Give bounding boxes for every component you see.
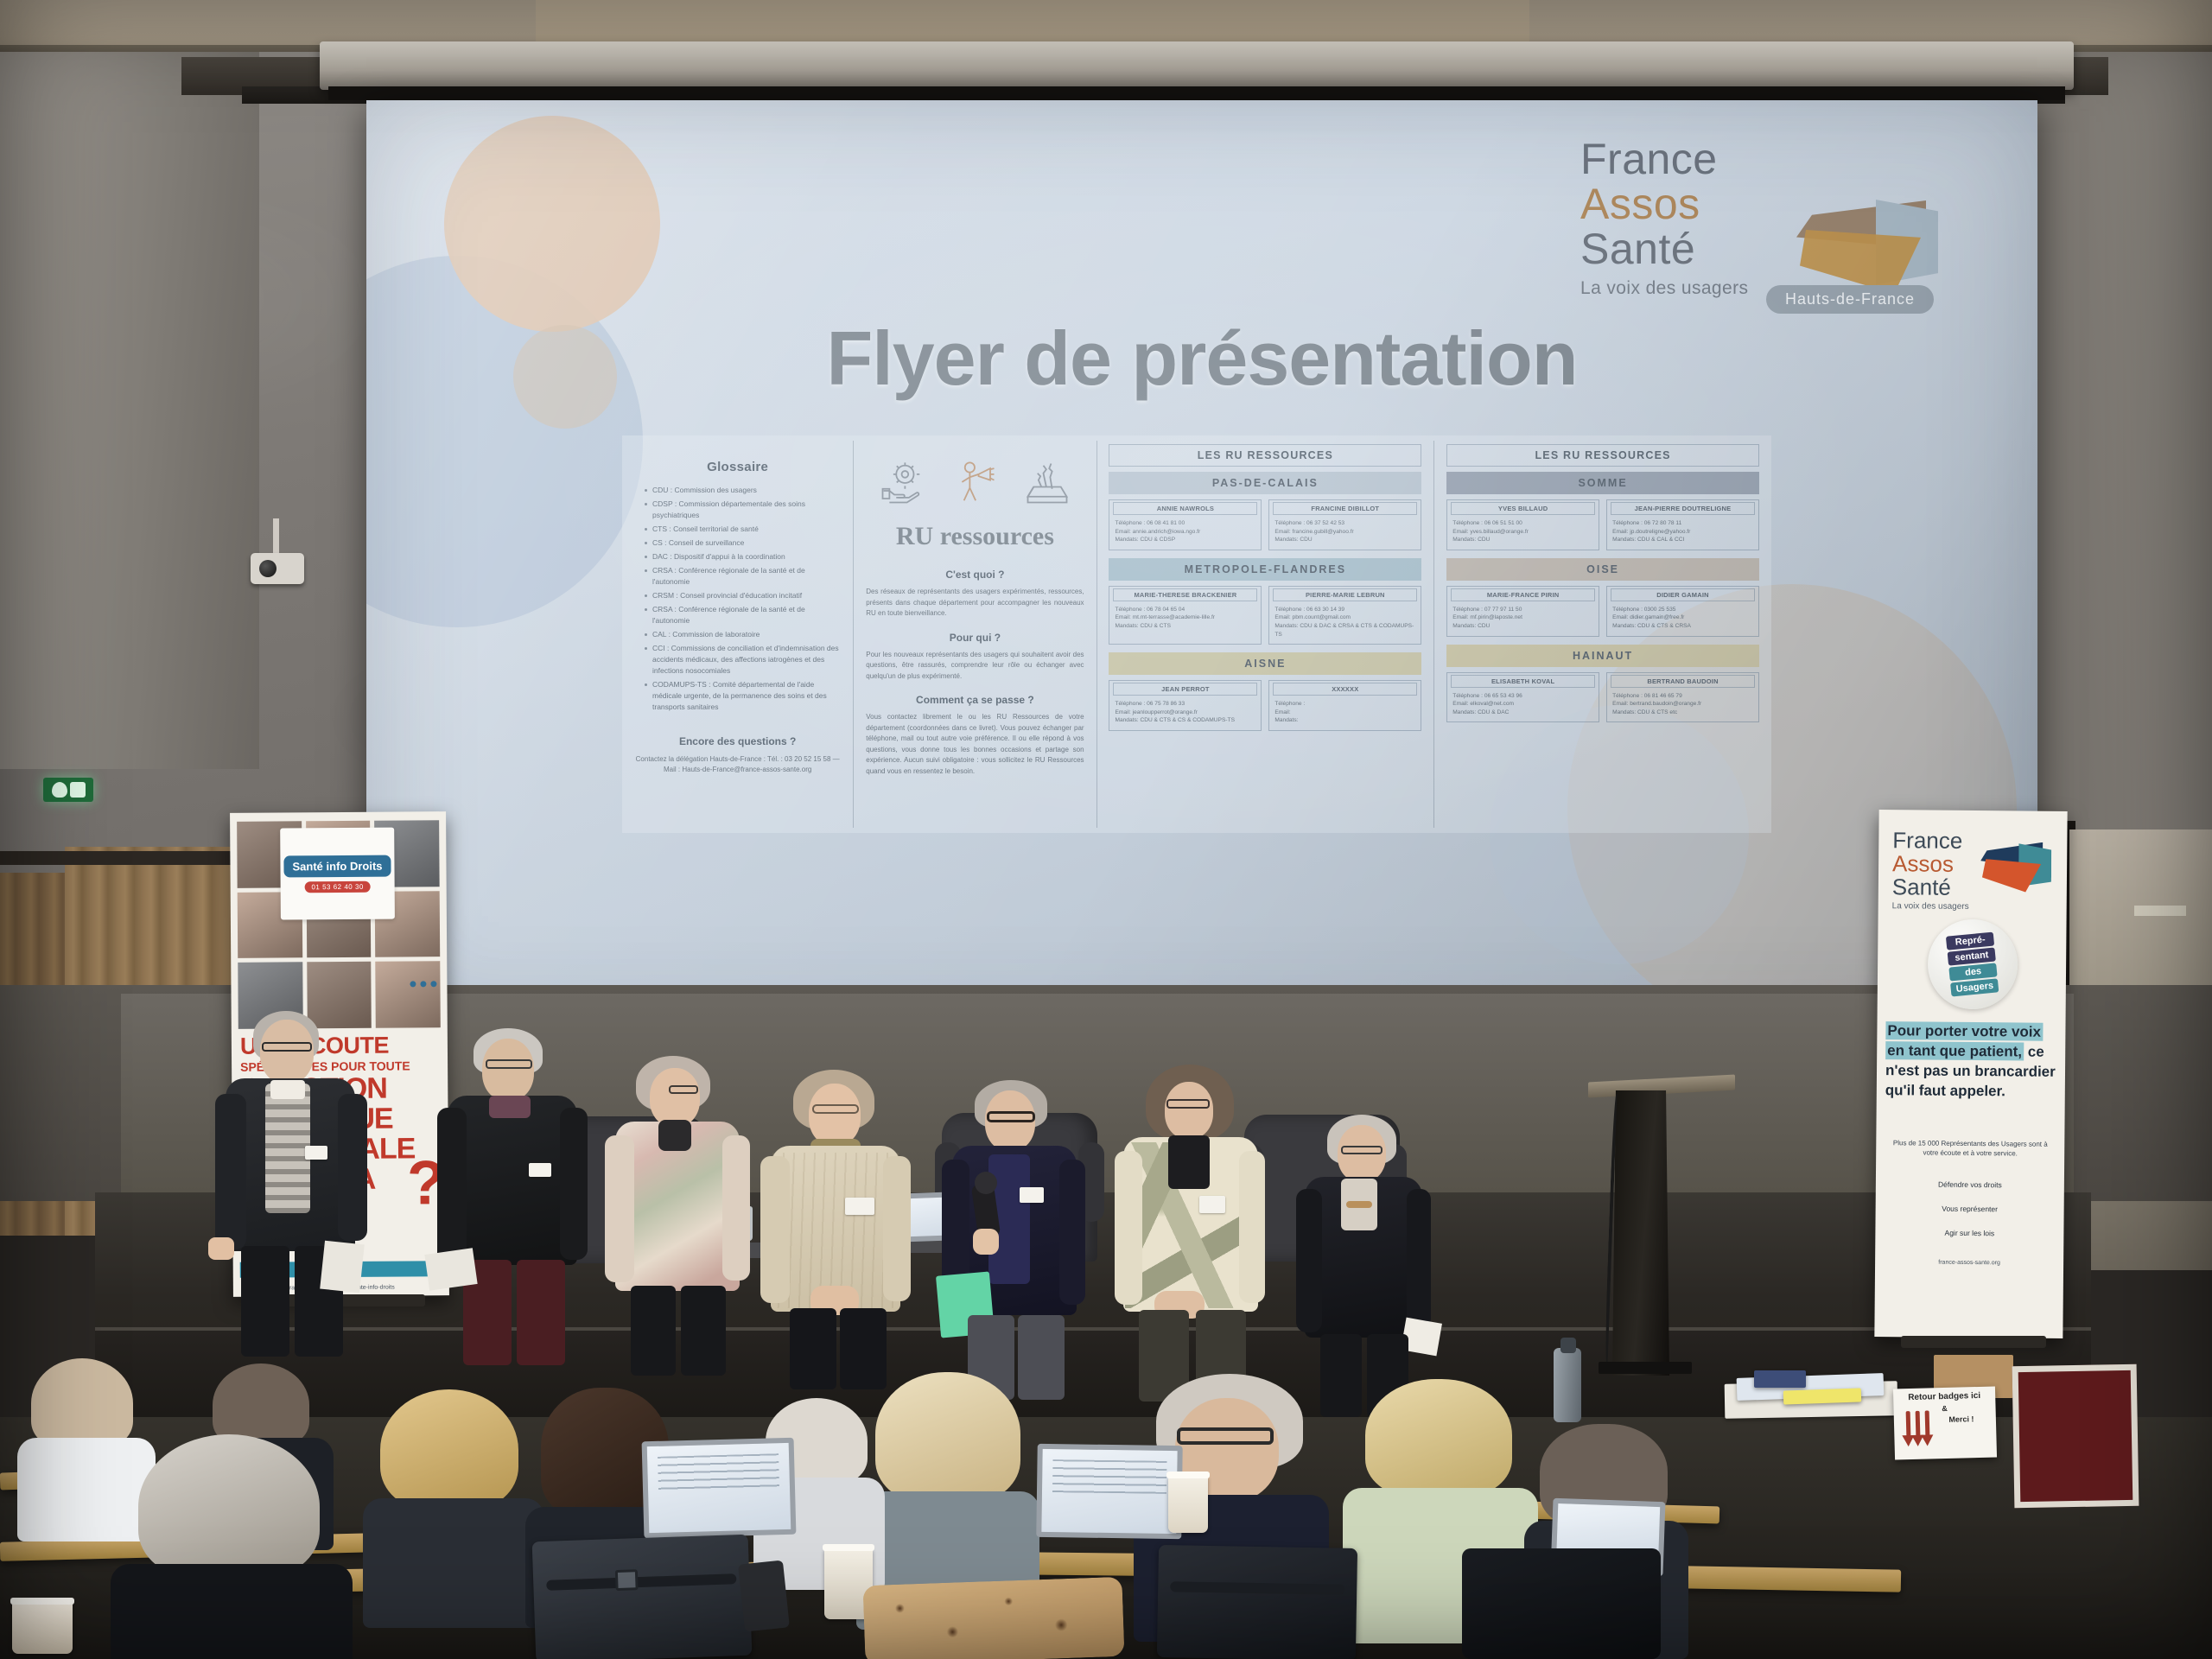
- panelist-1: [212, 1011, 372, 1357]
- coffee-cup: [1168, 1476, 1208, 1533]
- brand-phone: 01 53 62 40 30: [304, 880, 370, 893]
- contact-row: ELISABETH KOVAL Téléphone : 06 65 53 43 …: [1446, 672, 1759, 723]
- logo-line-1: France: [1580, 137, 1943, 181]
- glossary-item: CCI : Commissions de conciliation et d'i…: [645, 643, 841, 677]
- flyer-sheet: Glossaire CDU : Commission des usagers C…: [622, 435, 1771, 833]
- yellow-paper: [1783, 1388, 1862, 1404]
- panelist-2: [432, 1028, 592, 1365]
- glossary-item: CRSM : Conseil provincial d'éducation in…: [645, 590, 841, 601]
- thermos-cap: [1560, 1338, 1576, 1353]
- flyer-section-heading: Comment ça se passe ?: [866, 694, 1084, 706]
- banner-foot: [1901, 1336, 2046, 1348]
- glossary-question-heading: Encore des questions ?: [634, 735, 841, 747]
- glossary-item: CDSP : Commission départementale des soi…: [645, 499, 841, 521]
- contact-email: Email: pbm.count@gmail.com: [1274, 613, 1415, 622]
- glossary-item: CODAMUPS-TS : Comité départemental de l'…: [645, 679, 841, 713]
- contact-phone: Téléphone : 06 72 80 78 11: [1612, 519, 1753, 528]
- laptop-bag: [532, 1535, 753, 1659]
- wall-left-column: [0, 52, 259, 769]
- headline-highlight: Pour porter votre voix en tant que patie…: [1885, 1021, 2043, 1060]
- contact-phone: Téléphone : 06 08 41 81 00: [1115, 519, 1255, 528]
- contact-mandate: Mandats:: [1274, 716, 1415, 725]
- lectern-base: [1599, 1362, 1692, 1374]
- sign-line-1: Retour badges ici: [1897, 1391, 1992, 1403]
- france-assos-sante-logo: France Assos Santé La voix des usagers: [1580, 137, 1943, 299]
- contact-card: MARIE-FRANCE PIRIN Téléphone : 07 77 97 …: [1446, 586, 1599, 637]
- smartphone[interactable]: [738, 1560, 790, 1631]
- microphone-head-icon: [975, 1172, 997, 1194]
- eyeglasses-icon: [1166, 1099, 1210, 1109]
- contact-email: Email: francine.gubill@yahoo.fr: [1274, 528, 1415, 537]
- flyer-table-column-1: LES RU RESSOURCES PAS-DE-CALAIS ANNIE NA…: [1096, 435, 1433, 833]
- logo-tagline: La voix des usagers: [1892, 901, 2056, 912]
- backpack: [1157, 1545, 1357, 1659]
- dark-bag: [1462, 1548, 1661, 1659]
- coffee-cup: [12, 1602, 73, 1654]
- contact-phone: Téléphone : 06 63 30 14 39: [1274, 606, 1415, 614]
- decorative-dots-icon: [410, 981, 436, 987]
- flyer-icon-row: [866, 449, 1084, 517]
- glossary-item: CRSA : Conférence régionale de la santé …: [645, 565, 841, 588]
- contact-phone: Téléphone : 06 78 04 65 04: [1115, 606, 1255, 614]
- sign-line-3: Merci !: [1930, 1414, 1993, 1425]
- contact-phone: Téléphone : 06 06 51 51 00: [1452, 519, 1593, 528]
- thermos-bottle: [1554, 1348, 1581, 1422]
- projection-screen-bar: [328, 86, 2065, 100]
- banner-bullet: Agir sur les lois: [1891, 1228, 2048, 1238]
- badge-line-4: Usagers: [1950, 978, 1999, 996]
- contact-name: XXXXXX: [1273, 683, 1417, 696]
- contact-name: MARIE-THERESE BRACKENIER: [1113, 588, 1257, 601]
- contact-card: MARIE-THERESE BRACKENIER Téléphone : 06 …: [1109, 586, 1262, 645]
- banner-url: france-assos-sante.org: [1891, 1259, 2048, 1267]
- leopard-print-scarf: [862, 1577, 1124, 1659]
- logo-mark-icon: [1980, 836, 2054, 891]
- corridor-light: [2134, 906, 2186, 916]
- contact-card: XXXXXX Téléphone : Email: Mandats:: [1268, 680, 1421, 731]
- red-display-board: [2012, 1364, 2139, 1508]
- contact-email: Email: jeanloupperrot@orange.fr: [1115, 709, 1255, 717]
- banner-bullet: Défendre vos droits: [1891, 1179, 2049, 1190]
- contact-card: BERTRAND BAUDOIN Téléphone : 06 81 46 65…: [1606, 672, 1759, 723]
- glossary-item: CTS : Conseil territorial de santé: [645, 524, 841, 535]
- contact-name: FRANCINE DIBILLOT: [1273, 502, 1417, 515]
- contact-card: JEAN PERROT Téléphone : 06 75 78 86 33 E…: [1109, 680, 1262, 731]
- audience-laptop[interactable]: [1036, 1444, 1182, 1539]
- logo-region-pill: Hauts-de-France: [1766, 285, 1934, 314]
- audience-member: [372, 1389, 527, 1588]
- contact-row: YVES BILLAUD Téléphone : 06 06 51 51 00 …: [1446, 499, 1759, 550]
- slide-blob: [444, 116, 660, 332]
- security-camera-icon: [251, 553, 304, 584]
- contact-name: JEAN PERROT: [1113, 683, 1257, 696]
- emergency-exit-icon: [43, 778, 93, 802]
- contact-phone: Téléphone : 06 65 53 43 96: [1452, 692, 1593, 701]
- flyer-section-text: Vous contactez librement le ou les RU Re…: [866, 712, 1084, 777]
- glossary-item: CAL : Commission de laboratoire: [645, 629, 841, 640]
- flyer-middle-title: RU ressources: [866, 522, 1084, 551]
- contact-mandate: Mandats: CDU & CTS & CS & CODAMUPS-TS: [1115, 716, 1255, 725]
- banner-bullet: Vous représenter: [1891, 1204, 2049, 1214]
- badge-return-sign: Retour badges ici & Merci !: [1893, 1386, 1997, 1459]
- contact-row: MARIE-THERESE BRACKENIER Téléphone : 06 …: [1109, 586, 1421, 645]
- contact-email: Email: yves.billaud@orange.fr: [1452, 528, 1593, 537]
- contact-card: FRANCINE DIBILLOT Téléphone : 06 37 52 4…: [1268, 499, 1421, 550]
- contact-phone: Téléphone : 06 81 46 65 79: [1612, 692, 1753, 701]
- glossary-heading: Glossaire: [634, 460, 841, 474]
- contact-name: YVES BILLAUD: [1451, 502, 1595, 515]
- eyeglasses-icon: [262, 1042, 312, 1052]
- region-band: SOMME: [1446, 472, 1759, 494]
- contact-name: JEAN-PIERRE DOUTRELIGNE: [1611, 502, 1755, 515]
- flyer-section-heading: Pour qui ?: [866, 632, 1084, 644]
- wall-right-column: [2013, 52, 2212, 925]
- audience-laptop[interactable]: [642, 1438, 797, 1539]
- leaflet: [1754, 1370, 1806, 1388]
- contact-name: ANNIE NAWROLS: [1113, 502, 1257, 515]
- contact-card: ANNIE NAWROLS Téléphone : 06 08 41 81 00…: [1109, 499, 1262, 550]
- logo-mark-icon: [1796, 187, 1948, 290]
- contact-phone: Téléphone : 06 75 78 86 33: [1115, 700, 1255, 709]
- glossary-question-text: Contactez la délégation Hauts-de-France …: [634, 754, 841, 775]
- camera-mount: [273, 518, 279, 556]
- contact-name: ELISABETH KOVAL: [1451, 675, 1595, 688]
- eyeglasses-icon: [1177, 1427, 1274, 1445]
- panelist-4: [760, 1070, 912, 1389]
- contact-email: Email: jp.doutreligne@yahoo.fr: [1612, 528, 1753, 537]
- contact-phone: Téléphone : 07 77 97 11 50: [1452, 606, 1593, 614]
- contact-name: DIDIER GAMAIN: [1611, 588, 1755, 601]
- flyer-section-text: Pour les nouveaux représentants des usag…: [866, 650, 1084, 683]
- contact-name: BERTRAND BAUDOIN: [1611, 675, 1755, 688]
- contact-phone: Téléphone : 06 37 52 42 53: [1274, 519, 1415, 528]
- contact-name: PIERRE-MARIE LEBRUN: [1273, 588, 1417, 601]
- banner-subtext: Plus de 15 000 Représentants des Usagers…: [1888, 1138, 2052, 1159]
- contact-mandate: Mandats: CDU & DAC & CRSA & CTS & CODAMU…: [1274, 622, 1415, 639]
- region-band: AISNE: [1109, 652, 1421, 675]
- glossary-item: CDU : Commission des usagers: [645, 485, 841, 496]
- contact-mandate: Mandats: CDU & CTS etc: [1612, 709, 1753, 717]
- contact-card: PIERRE-MARIE LEBRUN Téléphone : 06 63 30…: [1268, 586, 1421, 645]
- contact-row: MARIE-FRANCE PIRIN Téléphone : 07 77 97 …: [1446, 586, 1759, 637]
- eyeglasses-icon: [486, 1059, 532, 1069]
- projection-screen-case: [320, 41, 2074, 90]
- contact-email: Email:: [1274, 709, 1415, 717]
- glossary-item: DAC : Dispositif d'appui à la coordinati…: [645, 551, 841, 563]
- ceiling-wood-panel: [536, 0, 1529, 47]
- eyeglasses-icon: [987, 1111, 1035, 1122]
- contact-row: JEAN PERROT Téléphone : 06 75 78 86 33 E…: [1109, 680, 1421, 731]
- flyer-middle-column: RU ressources C'est quoi ? Des réseaux d…: [854, 435, 1096, 833]
- representant-badge-icon: Repré- sentant des Usagers: [1928, 919, 2018, 1010]
- eyeglasses-icon: [812, 1104, 859, 1114]
- contact-email: Email: mf.pirin@laposte.net: [1452, 613, 1593, 622]
- region-band: PAS-DE-CALAIS: [1109, 472, 1421, 494]
- contact-name: MARIE-FRANCE PIRIN: [1451, 588, 1595, 601]
- audience-member: [868, 1372, 1024, 1571]
- contact-mandate: Mandats: CDU: [1452, 622, 1593, 631]
- panelist-3: [605, 1056, 752, 1376]
- region-band: HAINAUT: [1446, 645, 1759, 667]
- contact-mandate: Mandats: CDU & CTS & CRSA: [1612, 622, 1753, 631]
- conference-room-photo: France Assos Santé La voix des usagers H…: [0, 0, 2212, 1659]
- eyeglasses-icon: [1341, 1146, 1382, 1154]
- contact-card: YVES BILLAUD Téléphone : 06 06 51 51 00 …: [1446, 499, 1599, 550]
- banner-headline: Pour porter votre voix en tant que patie…: [1885, 1020, 2057, 1102]
- contact-email: Email: didier.gamain@free.fr: [1612, 613, 1753, 622]
- flyer-glossary-column: Glossaire CDU : Commission des usagers C…: [622, 435, 853, 833]
- contact-email: Email: annie.andrich@iowa.ngo.fr: [1115, 528, 1255, 537]
- table-header: LES RU RESSOURCES: [1109, 444, 1421, 467]
- table-header: LES RU RESSOURCES: [1446, 444, 1759, 467]
- flyer-section-heading: C'est quoi ?: [866, 569, 1084, 581]
- toolbox-icon: [1024, 460, 1071, 506]
- contact-phone: Téléphone : 0300 25 535: [1612, 606, 1753, 614]
- contact-row: ANNIE NAWROLS Téléphone : 06 08 41 81 00…: [1109, 499, 1421, 550]
- region-band: METROPOLE-FLANDRES: [1109, 558, 1421, 581]
- contact-card: ELISABETH KOVAL Téléphone : 06 65 53 43 …: [1446, 672, 1599, 723]
- glossary-item: CS : Conseil de surveillance: [645, 537, 841, 549]
- lectern-body: [1612, 1090, 1669, 1376]
- audience-member: [26, 1358, 138, 1514]
- contact-mandate: Mandats: CDU & DAC: [1452, 709, 1593, 717]
- brand-name: Santé info Droits: [283, 855, 391, 877]
- region-band: OISE: [1446, 558, 1759, 581]
- audience-member: [130, 1434, 328, 1659]
- contact-card: DIDIER GAMAIN Téléphone : 0300 25 535 Em…: [1606, 586, 1759, 637]
- contact-email: Email: bertrand.baudoin@orange.fr: [1612, 700, 1753, 709]
- contact-email: Email: elkoval@net.com: [1452, 700, 1593, 709]
- slide-title: Flyer de présentation: [366, 315, 2037, 403]
- eyeglasses-icon: [669, 1085, 698, 1094]
- person-megaphone-icon: [951, 460, 998, 506]
- panelist-5-speaker: [940, 1080, 1091, 1400]
- flyer-section-text: Des réseaux de représentants des usagers…: [866, 587, 1084, 620]
- panelist-7: [1296, 1115, 1434, 1417]
- panelist-6: [1113, 1065, 1268, 1402]
- down-arrow-icon: [1901, 1410, 1936, 1451]
- hand-gear-icon: [879, 460, 925, 506]
- necklace-icon: [1346, 1201, 1372, 1208]
- contact-mandate: Mandats: CDU: [1452, 536, 1593, 544]
- contact-email: Email: mt.mt-terrasse@academie-lille.fr: [1115, 613, 1255, 622]
- contact-mandate: Mandats: CDU & CDSP: [1115, 536, 1255, 544]
- contact-phone: Téléphone :: [1274, 700, 1415, 709]
- contact-mandate: Mandats: CDU & CAL & CCI: [1612, 536, 1753, 544]
- glossary-item: CRSA : Conférence régionale de la santé …: [645, 604, 841, 626]
- sante-info-droits-logo: Santé info Droits 01 53 62 40 30: [280, 828, 395, 920]
- flyer-table-column-2: LES RU RESSOURCES SOMME YVES BILLAUD Tél…: [1434, 435, 1771, 833]
- contact-mandate: Mandats: CDU & CTS: [1115, 622, 1255, 631]
- contact-card: JEAN-PIERRE DOUTRELIGNE Téléphone : 06 7…: [1606, 499, 1759, 550]
- banner-france-assos-sante: France Assos Santé La voix des usagers R…: [1874, 810, 2067, 1338]
- projection-screen: France Assos Santé La voix des usagers H…: [366, 100, 2037, 1038]
- contact-mandate: Mandats: CDU: [1274, 536, 1415, 544]
